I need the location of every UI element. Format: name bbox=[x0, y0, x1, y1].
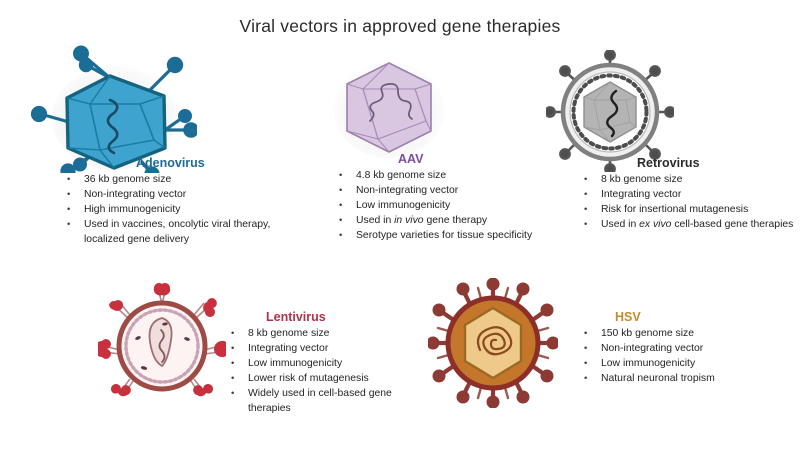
list-item: Integrating vector bbox=[575, 188, 800, 203]
page-title: Viral vectors in approved gene therapies bbox=[0, 16, 800, 37]
list-item: Natural neuronal tropism bbox=[575, 372, 795, 387]
adenovirus-figure bbox=[22, 38, 197, 173]
retrovirus-title: Retrovirus bbox=[575, 156, 800, 171]
hsv-panel: HSV 150 kb genome size Non-integrating v… bbox=[575, 310, 795, 387]
retrovirus-figure bbox=[546, 50, 674, 172]
list-item: 8 kb genome size bbox=[222, 327, 422, 342]
list-item: 4.8 kb genome size bbox=[330, 169, 545, 184]
hsv-fact-list: 150 kb genome size Non-integrating vecto… bbox=[575, 327, 795, 387]
list-item: Used in ex vivo cell-based gene therapie… bbox=[575, 218, 800, 233]
adenovirus-title: Adenovirus bbox=[58, 156, 298, 171]
list-item: Lower risk of mutagenesis bbox=[222, 372, 422, 387]
list-item: High immunogenicity bbox=[58, 203, 298, 218]
list-item: Used in in vivo gene therapy bbox=[330, 214, 545, 229]
hsv-capsid bbox=[465, 308, 521, 378]
list-item: Low immunogenicity bbox=[222, 357, 422, 372]
list-item: Low immunogenicity bbox=[330, 199, 545, 214]
lentivirus-figure bbox=[98, 282, 226, 410]
aav-title: AAV bbox=[330, 152, 545, 167]
list-item: Widely used in cell-based gene therapies bbox=[222, 387, 422, 416]
lentivirus-title: Lentivirus bbox=[222, 310, 422, 325]
adenovirus-fact-list: 36 kb genome size Non-integrating vector… bbox=[58, 173, 298, 247]
list-item: Used in vaccines, oncolytic viral therap… bbox=[58, 218, 298, 247]
retrovirus-panel: Retrovirus 8 kb genome size Integrating … bbox=[575, 156, 800, 233]
list-item: Risk for insertional mutagenesis bbox=[575, 203, 800, 218]
lentivirus-panel: Lentivirus 8 kb genome size Integrating … bbox=[222, 310, 422, 417]
list-item: 8 kb genome size bbox=[575, 173, 800, 188]
list-item: Low immunogenicity bbox=[575, 357, 795, 372]
list-item: 150 kb genome size bbox=[575, 327, 795, 342]
list-item: 36 kb genome size bbox=[58, 173, 298, 188]
list-item: Non-integrating vector bbox=[330, 184, 545, 199]
adenovirus-panel: Adenovirus 36 kb genome size Non-integra… bbox=[58, 156, 298, 248]
adenovirus-capsid bbox=[67, 76, 165, 168]
retrovirus-fact-list: 8 kb genome size Integrating vector Risk… bbox=[575, 173, 800, 233]
slide-canvas: Viral vectors in approved gene therapies bbox=[0, 0, 800, 450]
list-item: Non-integrating vector bbox=[575, 342, 795, 357]
lentivirus-fact-list: 8 kb genome size Integrating vector Low … bbox=[222, 327, 422, 417]
aav-panel: AAV 4.8 kb genome size Non-integrating v… bbox=[330, 152, 545, 244]
list-item: Non-integrating vector bbox=[58, 188, 298, 203]
list-item: Integrating vector bbox=[222, 342, 422, 357]
list-item: Serotype varieties for tissue specificit… bbox=[330, 229, 545, 244]
aav-figure bbox=[330, 55, 448, 160]
hsv-title: HSV bbox=[575, 310, 795, 325]
hsv-figure bbox=[428, 278, 558, 408]
aav-fact-list: 4.8 kb genome size Non-integrating vecto… bbox=[330, 169, 545, 244]
